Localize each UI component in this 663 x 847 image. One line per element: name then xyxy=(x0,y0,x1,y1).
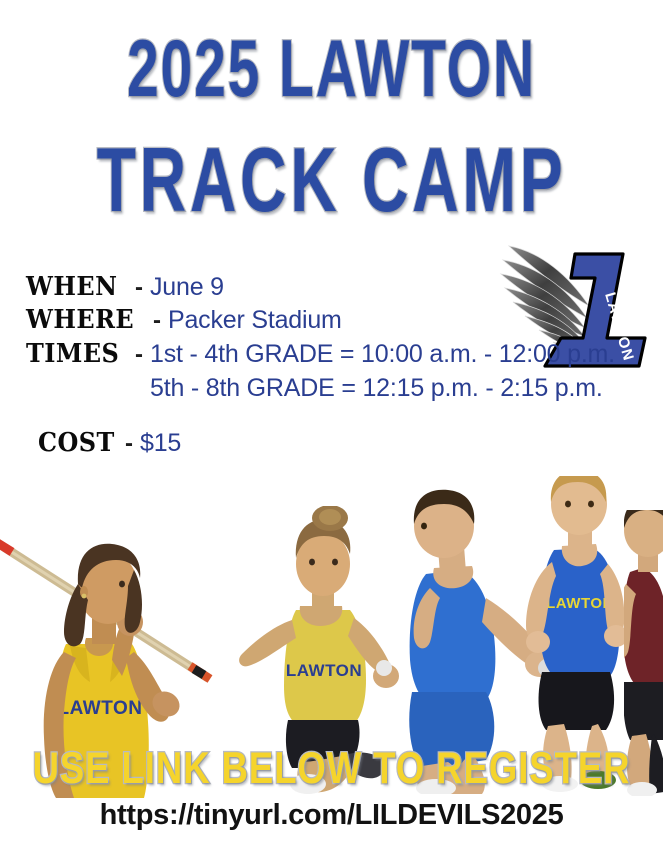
runner-shorts xyxy=(624,682,663,740)
when-value: June 9 xyxy=(150,273,224,302)
times-values: 1st - 4th GRADE = 10:00 a.m. - 12:00 p.m… xyxy=(150,338,615,406)
when-label: WHEN xyxy=(26,272,118,302)
where-separator: - xyxy=(144,307,168,335)
cost-label: COST xyxy=(38,428,110,458)
detail-row-where: WHERE - Packer Stadium xyxy=(26,305,644,335)
runner-head xyxy=(624,510,663,557)
times-label: TIMES xyxy=(26,339,118,369)
vaulter-singlet-text: LAWTON xyxy=(58,698,143,719)
detail-row-cost: COST - $15 xyxy=(38,428,644,458)
poster-title-line-2: TRACK CAMP xyxy=(27,128,637,232)
detail-row-when: WHEN - June 9 xyxy=(26,272,644,302)
detail-row-times: TIMES - 1st - 4th GRADE = 10:00 a.m. - 1… xyxy=(26,338,644,406)
sprinter-shorts xyxy=(539,672,615,730)
where-label: WHERE xyxy=(26,305,135,335)
track-camp-flyer: 2025 LAWTON TRACK CAMP xyxy=(0,0,663,847)
camp-details: WHEN - June 9 WHERE - Packer Stadium TIM… xyxy=(24,272,644,461)
times-value-line-2: 5th - 8th GRADE = 12:15 p.m. - 2:15 p.m. xyxy=(150,372,615,406)
jumper-singlet-text: LAWTON xyxy=(286,661,362,680)
vaulter-earring xyxy=(82,594,87,599)
times-separator: - xyxy=(126,341,150,369)
times-value-line-1: 1st - 4th GRADE = 10:00 a.m. - 12:00 p.m… xyxy=(150,338,615,372)
cost-value: $15 xyxy=(140,429,181,458)
registration-url[interactable]: https://tinyurl.com/LILDEVILS2025 xyxy=(0,799,663,832)
where-value: Packer Stadium xyxy=(168,306,342,335)
when-separator: - xyxy=(126,274,150,302)
sprinter-left-hand xyxy=(526,631,550,653)
cost-separator: - xyxy=(116,430,140,458)
sprinter-singlet-text: LAWTON xyxy=(546,595,614,612)
poster-title-line-1: 2025 LAWTON xyxy=(27,23,637,115)
register-call-to-action: USE LINK BELOW TO REGISTER xyxy=(13,744,649,795)
